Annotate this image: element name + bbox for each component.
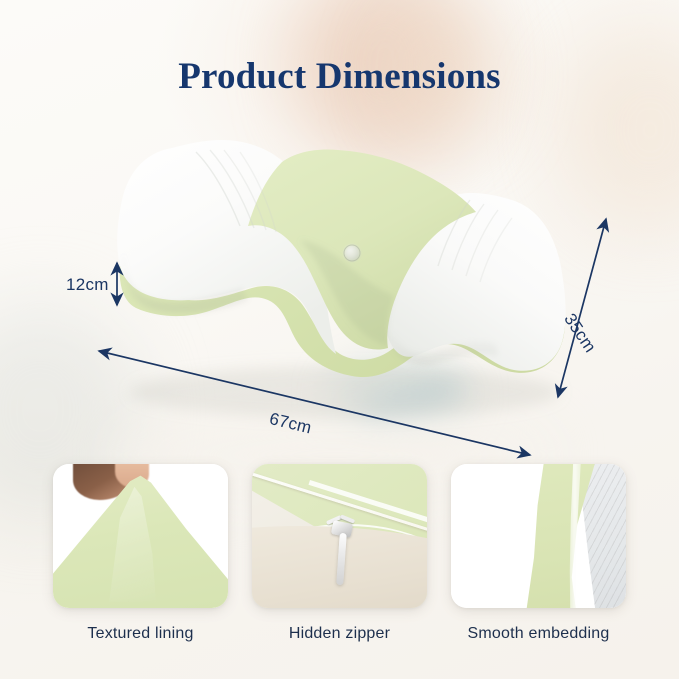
feature-caption-smooth-embedding: Smooth embedding (451, 625, 626, 643)
feature-caption-hidden-zipper: Hidden zipper (252, 625, 427, 643)
feature-cards: Textured lining Hidden zipper (0, 464, 679, 664)
feature-thumbnail-smooth-embedding (451, 464, 626, 608)
feature-card-textured-lining[interactable]: Textured lining (53, 464, 228, 643)
feature-card-smooth-embedding[interactable]: Smooth embedding (451, 464, 626, 643)
feature-caption-textured-lining: Textured lining (53, 625, 228, 643)
feature-card-hidden-zipper[interactable]: Hidden zipper (252, 464, 427, 643)
feature-thumbnail-textured-lining (53, 464, 228, 608)
product-dimensions-infographic: Product Dimensions (0, 0, 679, 679)
feature-thumbnail-hidden-zipper (252, 464, 427, 608)
height-dimension-label: 12cm (66, 275, 109, 295)
page-title: Product Dimensions (0, 55, 679, 98)
